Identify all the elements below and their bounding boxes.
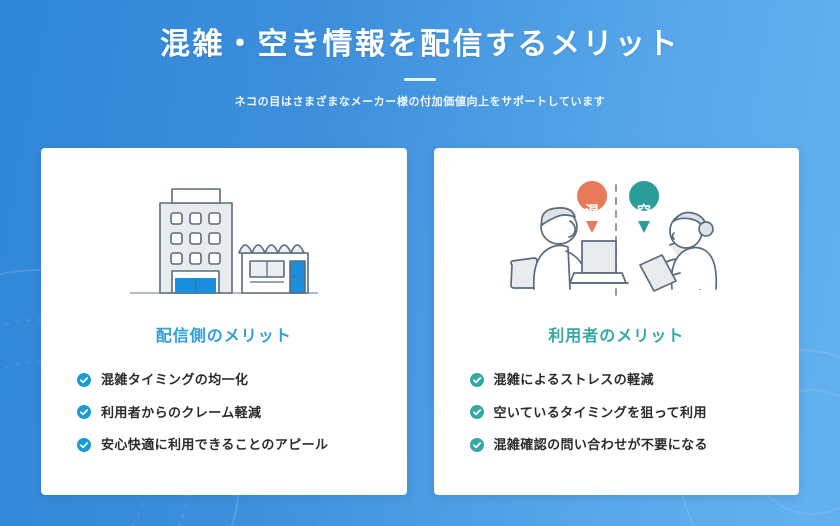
list-item-label: 空いているタイミングを狙って利用: [494, 405, 707, 421]
card-user: 混 空: [434, 148, 800, 495]
check-circle-icon: [470, 405, 484, 419]
card-heading-provider: 配信側のメリット: [156, 322, 292, 346]
check-circle-icon: [77, 373, 91, 387]
status-bubble-vacant: 空: [629, 181, 659, 233]
check-circle-icon: [77, 438, 91, 452]
list-item: 混雑確認の問い合わせが不要になる: [470, 437, 778, 453]
list-item-label: 利用者からのクレーム軽減: [101, 405, 261, 421]
list-item-label: 混雑確認の問い合わせが不要になる: [494, 437, 708, 453]
list-item: 安心快適に利用できることのアピール: [77, 437, 385, 453]
svg-text:混: 混: [585, 204, 599, 220]
slide-canvas: 混雑・空き情報を配信するメリット ネコの目はさまざまなメーカー様の付加価値向上を…: [0, 0, 840, 526]
list-item: 混雑によるストレスの軽減: [470, 372, 778, 388]
list-item: 混雑タイミングの均一化: [77, 372, 385, 388]
card-provider: 配信側のメリット 混雑タイミングの均一化 利用者からのクレーム軽減: [41, 148, 407, 495]
list-item-label: 安心快適に利用できることのアピール: [101, 437, 328, 453]
benefit-list-user: 混雑によるストレスの軽減 空いているタイミングを狙って利用 混雑確認の問い合わせ…: [456, 372, 778, 453]
header: 混雑・空き情報を配信するメリット ネコの目はさまざまなメーカー様の付加価値向上を…: [0, 0, 840, 109]
benefit-cards: 配信側のメリット 混雑タイミングの均一化 利用者からのクレーム軽減: [41, 148, 799, 495]
list-item-label: 混雑によるストレスの軽減: [494, 372, 654, 388]
benefit-list-provider: 混雑タイミングの均一化 利用者からのクレーム軽減 安心快適に利用できることのアピ…: [63, 372, 385, 453]
card-heading-user: 利用者のメリット: [548, 322, 684, 346]
check-circle-icon: [470, 438, 484, 452]
people-with-status-bubbles-illustration: 混 空: [504, 166, 729, 316]
check-circle-icon: [470, 373, 484, 387]
status-bubble-congested: 混: [577, 181, 607, 233]
page-title: 混雑・空き情報を配信するメリット: [0, 0, 840, 64]
page-subtitle: ネコの目はさまざまなメーカー様の付加価値向上をサポートしています: [0, 93, 840, 109]
building-and-shop-illustration: [124, 166, 324, 316]
title-divider: [404, 78, 436, 81]
list-item-label: 混雑タイミングの均一化: [101, 372, 248, 388]
check-circle-icon: [77, 405, 91, 419]
list-item: 利用者からのクレーム軽減: [77, 405, 385, 421]
list-item: 空いているタイミングを狙って利用: [470, 405, 778, 421]
svg-text:空: 空: [637, 203, 651, 220]
